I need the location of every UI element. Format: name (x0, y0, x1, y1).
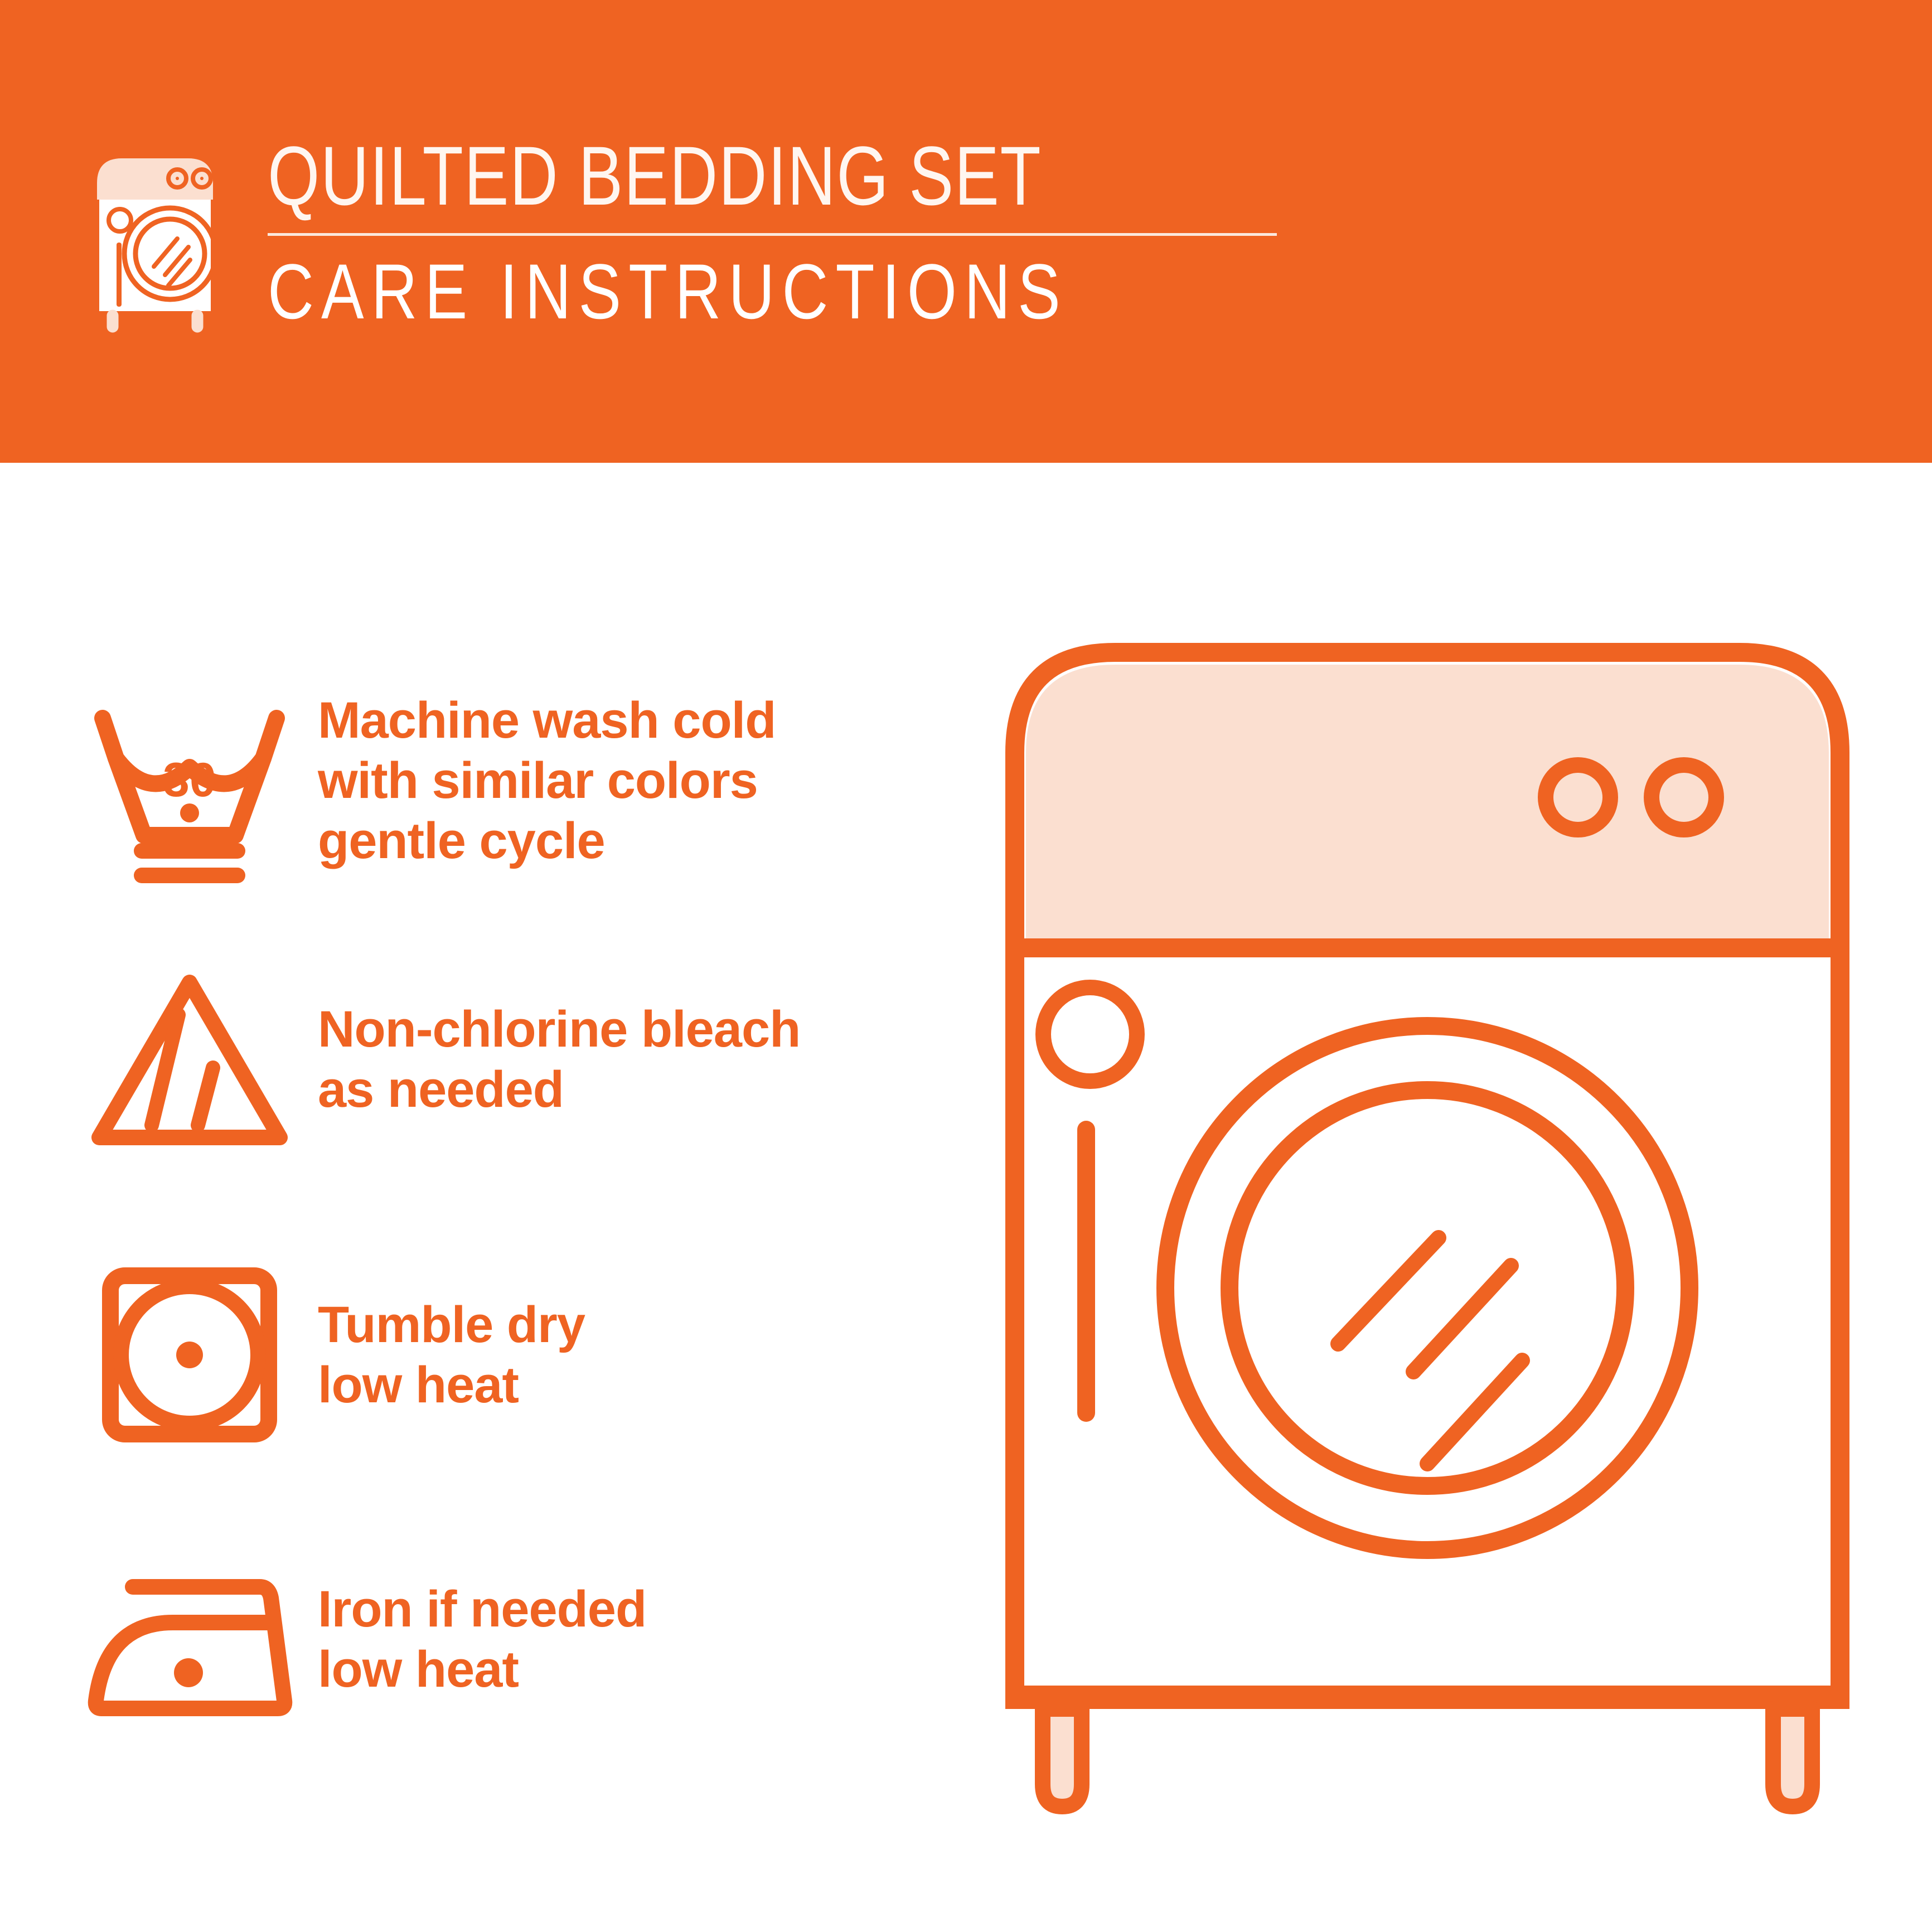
care-instruction-list: 30 Machine wash cold with similar colors… (0, 647, 948, 1818)
front-load-washing-machine-illustration (948, 624, 1896, 1840)
foot-left (1043, 1709, 1082, 1807)
page-title: QUILTED BEDDING SET (268, 134, 1124, 217)
instruction-text: Iron if needed low heat (318, 1579, 646, 1699)
instruction-text: Tumble dry low heat (318, 1295, 585, 1415)
base-bar (1005, 1687, 1849, 1709)
list-item: Iron if needed low heat (84, 1528, 920, 1751)
iron-low-heat-icon (84, 1533, 296, 1745)
handle-bar (1077, 1121, 1095, 1422)
instruction-text: Non-chlorine bleach as needed (318, 999, 800, 1120)
list-item: Non-chlorine bleach as needed (84, 937, 920, 1182)
non-chlorine-bleach-triangle-icon (84, 953, 296, 1165)
header-text-block: QUILTED BEDDING SET CARE INSTRUCTIONS (268, 134, 1338, 331)
foot-right (1773, 1709, 1812, 1807)
page-subtitle: CARE INSTRUCTIONS (268, 253, 1145, 331)
instruction-text: Machine wash cold with similar colors ge… (318, 690, 776, 871)
wash-tub-30-gentle-icon: 30 (84, 675, 296, 887)
list-item: 30 Machine wash cold with similar colors… (84, 647, 920, 914)
header-content: QUILTED BEDDING SET CARE INSTRUCTIONS (84, 134, 1338, 357)
washing-machine-icon (84, 139, 245, 335)
tumble-dry-low-icon (84, 1249, 296, 1461)
header-divider (268, 233, 1277, 236)
list-item: Tumble dry low heat (84, 1238, 920, 1472)
header-band: QUILTED BEDDING SET CARE INSTRUCTIONS (0, 0, 1932, 463)
wash-temperature-label: 30 (163, 753, 216, 807)
